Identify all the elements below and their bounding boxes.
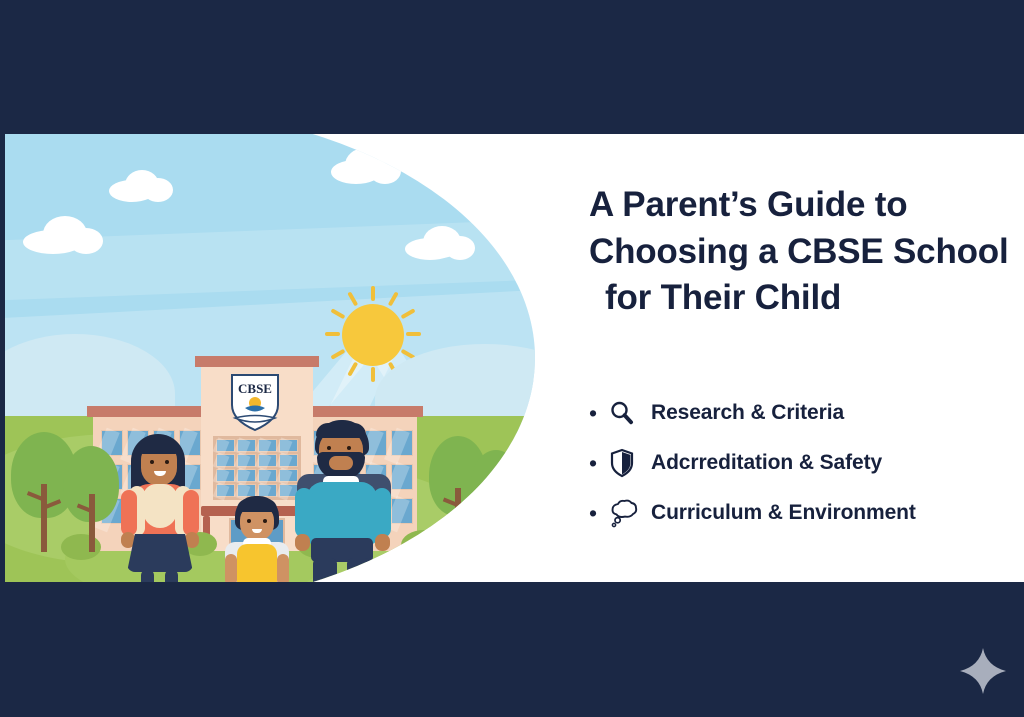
window-pane — [237, 469, 256, 482]
arm — [183, 490, 199, 536]
window-pane — [237, 454, 256, 467]
hair-fringe — [237, 499, 277, 512]
bullet-list: • Research & Criteria • — [589, 388, 1024, 538]
hair-fringe — [139, 438, 179, 454]
figure-child — [221, 496, 293, 582]
cbse-logo: CBSE — [227, 372, 283, 434]
roof — [195, 356, 319, 367]
bush — [61, 534, 101, 560]
leg — [165, 570, 178, 582]
bullet-dot: • — [589, 502, 605, 525]
thought-bubble-icon — [605, 497, 651, 529]
text-column: A Parent’s Guide to Choosing a CBSE Scho… — [582, 134, 1024, 582]
window-pane — [258, 454, 277, 467]
leg — [347, 558, 371, 582]
arm — [121, 490, 137, 536]
figure-father — [289, 420, 401, 582]
window-pane — [237, 439, 256, 452]
dupatta — [143, 484, 177, 528]
hand — [295, 534, 310, 551]
leg — [313, 558, 337, 582]
roof — [299, 406, 423, 417]
list-item[interactable]: • Curriculum & Environment — [589, 488, 1024, 538]
title-line-1: A Parent’s Guide to — [589, 182, 1024, 229]
hand — [375, 534, 390, 551]
shirt-yellow — [237, 544, 277, 582]
sun-icon — [342, 304, 404, 366]
bush — [401, 530, 447, 560]
shield-icon — [605, 447, 651, 479]
sparkle-icon — [957, 645, 1009, 697]
illustration-panel: CBSE — [5, 134, 535, 582]
list-item[interactable]: • Research & Criteria — [589, 388, 1024, 438]
title-line-2: Choosing a CBSE School — [589, 229, 1024, 276]
skirt — [127, 534, 193, 572]
arm — [277, 554, 289, 582]
list-item-label: Curriculum & Environment — [651, 501, 916, 525]
roof — [87, 406, 211, 417]
arm — [225, 554, 237, 582]
window-pane — [258, 469, 277, 482]
hair-fringe — [316, 423, 366, 438]
illustration-arch-mask: CBSE — [5, 134, 535, 582]
figure-mother — [109, 434, 219, 582]
bullet-dot: • — [589, 402, 605, 425]
list-item-label: Adcrreditation & Safety — [651, 451, 882, 475]
magnifier-icon — [605, 397, 651, 429]
title-line-3: for Their Child — [589, 275, 1024, 322]
leg — [141, 570, 154, 582]
sweater-teal — [307, 482, 377, 544]
page-title: A Parent’s Guide to Choosing a CBSE Scho… — [589, 182, 1024, 322]
illustration-scene: CBSE — [5, 134, 535, 582]
bullet-dot: • — [589, 452, 605, 475]
list-item-label: Research & Criteria — [651, 401, 844, 425]
mouth-area — [329, 456, 353, 470]
cbse-logo-text: CBSE — [238, 381, 272, 396]
slide-card: CBSE — [5, 134, 1024, 582]
window-pane — [258, 439, 277, 452]
arm — [373, 488, 391, 538]
list-item[interactable]: • Adcrreditation & Safety — [589, 438, 1024, 488]
arm — [295, 488, 313, 538]
